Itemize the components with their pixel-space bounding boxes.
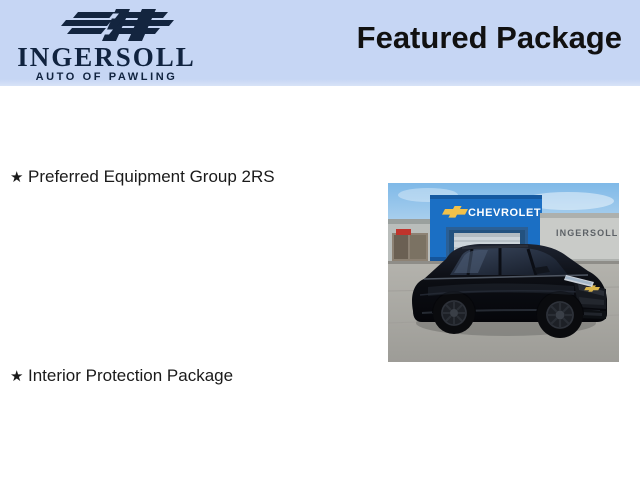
header-band: INGERSOLL AUTO OF PAWLING Featured Packa… [0,0,640,86]
star-bullet-icon: ★ [10,369,28,384]
svg-text:INGERSOLL: INGERSOLL [556,228,618,238]
list-item: ★ Preferred Equipment Group 2RS [10,168,275,187]
feature-label: Preferred Equipment Group 2RS [28,168,275,187]
ingersoll-wing-emblem-icon [56,7,178,43]
dealer-logo-tagline: AUTO OF PAWLING [4,72,209,83]
star-bullet-icon: ★ [10,170,28,185]
svg-text:CHEVROLET: CHEVROLET [468,207,541,219]
dealer-logo-name: INGERSOLL [4,44,209,71]
list-item: ★ Interior Protection Package [10,367,233,386]
vehicle-photo: CHEVROLET INGERSOLL [388,183,619,362]
feature-label: Interior Protection Package [28,367,233,386]
dealer-logo: INGERSOLL AUTO OF PAWLING [4,4,209,82]
content-area: ★ Preferred Equipment Group 2RS ★ Interi… [0,86,640,480]
page-title: Featured Package [357,20,622,56]
